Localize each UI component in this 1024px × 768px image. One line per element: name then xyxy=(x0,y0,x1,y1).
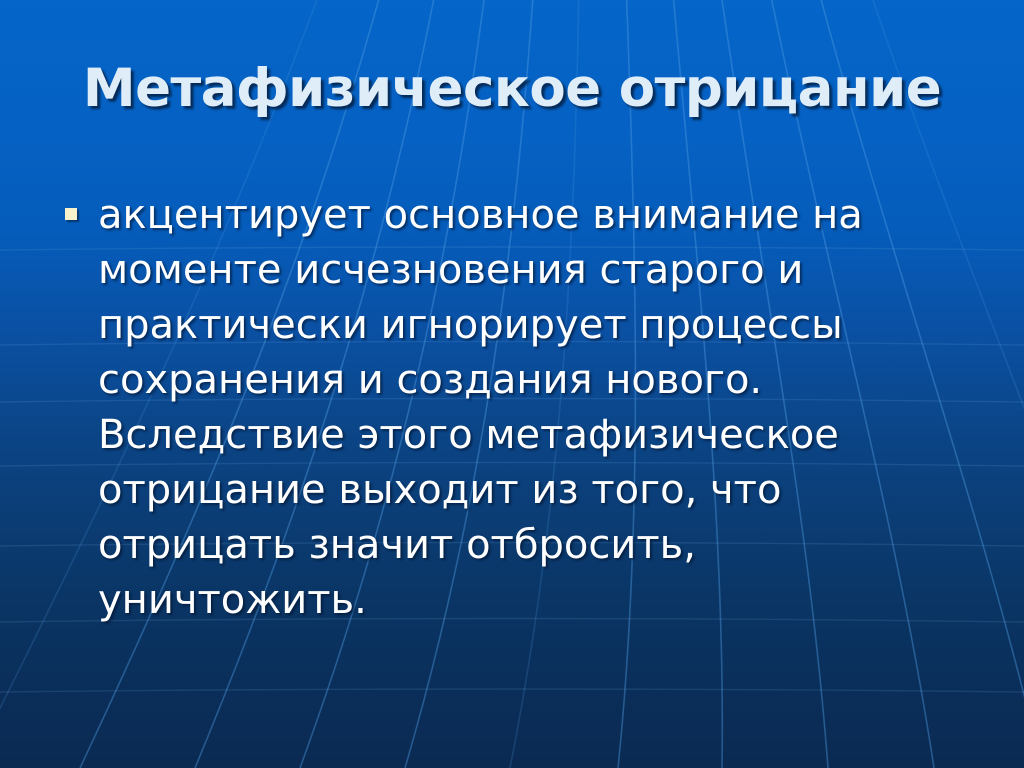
bullet-line: акцентирует основное внимание на xyxy=(98,188,962,243)
list-item: акцентирует основное внимание на моменте… xyxy=(62,188,962,628)
bullet-text: акцентирует основное внимание на моменте… xyxy=(98,188,962,628)
bullet-line: отрицать значит отбросить, xyxy=(98,518,962,573)
bullet-line: отрицание выходит из того, что xyxy=(98,463,962,518)
slide-body: акцентирует основное внимание на моменте… xyxy=(62,188,962,628)
presentation-slide: Метафизическое отрицание акцентирует осн… xyxy=(0,0,1024,768)
square-bullet-icon xyxy=(65,208,77,220)
bullet-line: Вследствие этого метафизическое xyxy=(98,408,962,463)
bullet-line: практически игнорирует процессы xyxy=(98,298,962,353)
slide-title: Метафизическое отрицание xyxy=(0,58,1024,119)
bullet-line: сохранения и создания нового. xyxy=(98,353,962,408)
bullet-line: уничтожить. xyxy=(98,573,962,628)
bullet-line: моменте исчезновения старого и xyxy=(98,243,962,298)
